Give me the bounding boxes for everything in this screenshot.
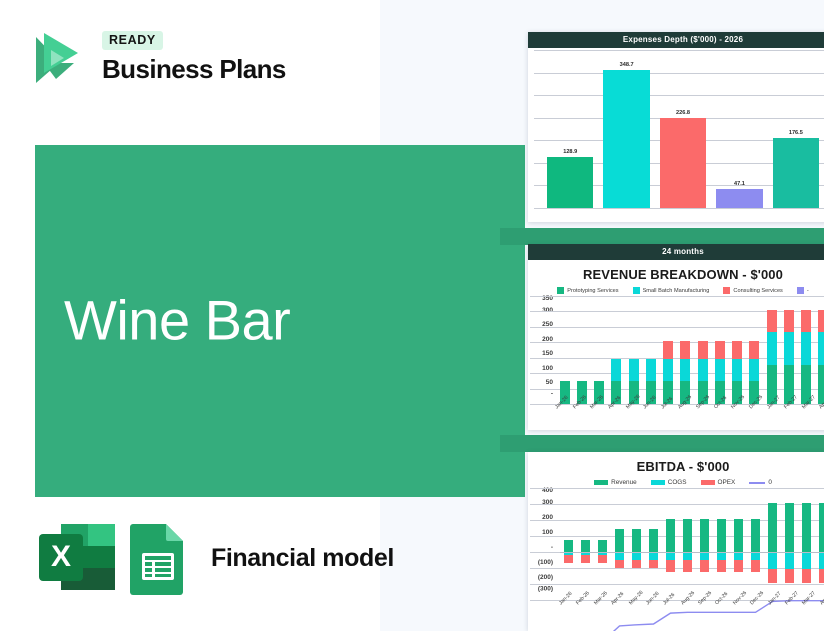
legend-item[interactable]: COGS bbox=[651, 479, 687, 486]
bar-segment bbox=[767, 332, 777, 364]
bar bbox=[773, 138, 819, 208]
chart-card-expenses[interactable]: Expenses Depth ($'000) - 2026 128.9348.7… bbox=[528, 32, 824, 222]
bar-segment bbox=[751, 560, 761, 572]
chart-title-revenue: REVENUE BREAKDOWN - $'000 bbox=[528, 260, 824, 284]
legend-item[interactable]: Consulting Services bbox=[723, 287, 782, 294]
bar-segment bbox=[749, 341, 759, 360]
bar-series-revenue bbox=[556, 296, 824, 404]
play-triangle-logo-icon bbox=[26, 27, 88, 89]
legend-label: 0 bbox=[768, 479, 772, 486]
legend-item[interactable]: Small Batch Manufacturing bbox=[633, 287, 710, 294]
stacked-bar bbox=[713, 488, 730, 600]
bar-segment bbox=[717, 552, 727, 560]
bar-segment bbox=[785, 569, 795, 583]
bar-segment bbox=[615, 529, 625, 552]
ready-badge: READY bbox=[102, 31, 163, 50]
legend-swatch bbox=[723, 287, 730, 294]
bar-segment bbox=[632, 552, 642, 560]
bar-column: 226.8 bbox=[655, 50, 711, 208]
bar-segment bbox=[734, 560, 744, 572]
hero-banner: Wine Bar bbox=[35, 145, 525, 497]
bar-segment bbox=[732, 341, 742, 360]
bar-segment bbox=[785, 552, 795, 569]
stacked-bar bbox=[815, 296, 824, 404]
bar-segment bbox=[680, 341, 690, 360]
bar-segment bbox=[717, 519, 727, 552]
plot-area-expenses: 128.9348.7226.847.1176.5 bbox=[534, 50, 824, 208]
plot-area-ebitda: 400300200100-(100)(200)(300) bbox=[530, 488, 824, 600]
bar-segment bbox=[683, 552, 693, 560]
bar-segment bbox=[818, 332, 824, 364]
bar-column: 348.7 bbox=[598, 50, 654, 208]
bar-column: 47.1 bbox=[711, 50, 767, 208]
stacked-bar bbox=[729, 296, 746, 404]
legend-label: Prototyping Services bbox=[567, 288, 618, 294]
bar-segment bbox=[581, 540, 591, 552]
bar-column: 128.9 bbox=[542, 50, 598, 208]
bar-value-label: 47.1 bbox=[711, 181, 767, 187]
page-title: Wine Bar bbox=[64, 292, 290, 351]
bar-segment bbox=[802, 503, 812, 552]
bar-segment bbox=[581, 555, 591, 563]
legend-item[interactable]: Prototyping Services bbox=[557, 287, 618, 294]
legend-swatch bbox=[557, 287, 564, 294]
bar-segment bbox=[666, 519, 676, 552]
bar-segment bbox=[819, 569, 824, 583]
bar-segment bbox=[700, 519, 710, 552]
stacked-bar bbox=[645, 488, 662, 600]
x-axis-ebitda: Jan-26Feb-26Mar-26Apr-26May-26Jun-26Jul-… bbox=[528, 600, 824, 624]
legend-label: - bbox=[807, 288, 809, 294]
x-axis-revenue: Jan-26Feb-26Mar-26Apr-26May-26Jun-26Jul-… bbox=[528, 404, 824, 428]
legend-item[interactable]: 0 bbox=[749, 479, 772, 486]
bar-segment bbox=[700, 560, 710, 572]
bar-segment bbox=[819, 552, 824, 569]
bar-segment bbox=[801, 332, 811, 364]
legend-label: Consulting Services bbox=[733, 288, 782, 294]
bar-segment bbox=[784, 310, 794, 332]
bar-segment bbox=[785, 503, 795, 552]
bar-segment bbox=[646, 359, 656, 381]
stacked-bar bbox=[694, 296, 711, 404]
bar-segment bbox=[666, 560, 676, 572]
legend-swatch bbox=[651, 480, 665, 485]
bar-segment bbox=[734, 552, 744, 560]
chart-title-expenses: Expenses Depth ($'000) - 2026 bbox=[528, 32, 824, 48]
stacked-bar bbox=[815, 488, 824, 600]
bar-series-expenses: 128.9348.7226.847.1176.5 bbox=[534, 50, 824, 208]
brand-name: Business Plans bbox=[102, 54, 286, 85]
chart-card-ebitda[interactable]: EBITDA - $'000 RevenueCOGSOPEX0 40030020… bbox=[528, 452, 824, 631]
bar-segment bbox=[615, 560, 625, 568]
stacked-bar bbox=[662, 488, 679, 600]
legend-swatch bbox=[633, 287, 640, 294]
stacked-bar bbox=[764, 488, 781, 600]
bar-segment bbox=[768, 569, 778, 583]
bar-segment bbox=[649, 552, 659, 560]
stacked-bar bbox=[625, 296, 642, 404]
bar-segment bbox=[767, 310, 777, 332]
bar-segment bbox=[700, 552, 710, 560]
bar-segment bbox=[564, 555, 574, 563]
legend-item[interactable]: - bbox=[797, 287, 809, 294]
stacked-bar bbox=[711, 296, 728, 404]
legend-label: OPEX bbox=[718, 479, 736, 486]
bar-segment bbox=[802, 569, 812, 583]
bar-segment bbox=[751, 519, 761, 552]
bar-segment bbox=[615, 552, 625, 560]
bar-segment bbox=[818, 310, 824, 332]
legend-swatch bbox=[749, 482, 765, 484]
stacked-bar bbox=[696, 488, 713, 600]
plot-area-revenue: 35030025020015010050- bbox=[530, 296, 824, 404]
bar-segment bbox=[732, 359, 742, 381]
svg-text:X: X bbox=[51, 540, 71, 573]
stacked-bar bbox=[781, 488, 798, 600]
bar-segment bbox=[663, 341, 673, 360]
bar-segment bbox=[801, 310, 811, 332]
accent-strip-ebitda bbox=[500, 435, 824, 452]
bar-value-label: 176.5 bbox=[768, 130, 824, 136]
brand-lockup: READY Business Plans bbox=[26, 27, 286, 89]
bar-segment bbox=[632, 529, 642, 552]
bar-value-label: 348.7 bbox=[598, 62, 654, 68]
bar-segment bbox=[598, 555, 608, 563]
legend-ebitda: RevenueCOGSOPEX0 bbox=[528, 476, 824, 488]
gridline bbox=[534, 208, 824, 209]
stacked-bar bbox=[591, 296, 608, 404]
legend-swatch bbox=[701, 480, 715, 485]
bar-column: 176.5 bbox=[768, 50, 824, 208]
stacked-bar bbox=[677, 296, 694, 404]
stacked-bar bbox=[608, 296, 625, 404]
bar-segment bbox=[734, 519, 744, 552]
bar-segment bbox=[683, 560, 693, 572]
bar-segment bbox=[564, 540, 574, 552]
legend-label: Small Batch Manufacturing bbox=[643, 288, 710, 294]
bar-segment bbox=[768, 552, 778, 569]
bar bbox=[547, 157, 593, 208]
bar-segment bbox=[717, 560, 727, 572]
legend-label: Revenue bbox=[611, 479, 637, 486]
bar-series-ebitda bbox=[560, 488, 824, 600]
bar-segment bbox=[649, 560, 659, 568]
bar bbox=[603, 70, 649, 208]
format-label: Financial model bbox=[211, 544, 394, 573]
stacked-bar bbox=[747, 488, 764, 600]
bar-segment bbox=[819, 503, 824, 552]
bar-segment bbox=[649, 529, 659, 552]
bar-segment bbox=[768, 503, 778, 552]
stacked-bar bbox=[577, 488, 594, 600]
stacked-bar bbox=[780, 296, 797, 404]
chart-title-ebitda: EBITDA - $'000 bbox=[528, 452, 824, 476]
bar-segment bbox=[629, 359, 639, 381]
chart-card-revenue[interactable]: 24 months REVENUE BREAKDOWN - $'000 Prot… bbox=[528, 244, 824, 430]
legend-revenue: Prototyping ServicesSmall Batch Manufact… bbox=[528, 284, 824, 296]
bar-segment bbox=[715, 341, 725, 360]
stacked-bar bbox=[573, 296, 590, 404]
format-row: X Financial model bbox=[35, 520, 394, 596]
stacked-bar bbox=[798, 296, 815, 404]
bar-value-label: 128.9 bbox=[542, 149, 598, 155]
bar-segment bbox=[749, 359, 759, 381]
legend-swatch bbox=[594, 480, 608, 485]
bar-segment bbox=[698, 359, 708, 381]
legend-item[interactable]: Revenue bbox=[594, 479, 637, 486]
bar-segment bbox=[818, 365, 824, 404]
bar-segment bbox=[598, 540, 608, 552]
bar-segment bbox=[751, 552, 761, 560]
bar-segment bbox=[802, 552, 812, 569]
bar-segment bbox=[680, 359, 690, 381]
stacked-bar bbox=[594, 488, 611, 600]
bar-segment bbox=[715, 359, 725, 381]
bar-segment bbox=[784, 332, 794, 364]
bar-segment bbox=[632, 560, 642, 568]
stacked-bar bbox=[679, 488, 696, 600]
bar-value-label: 226.8 bbox=[655, 110, 711, 116]
zero-line bbox=[560, 552, 824, 553]
accent-strip-revenue bbox=[500, 228, 824, 245]
slide-canvas: READY Business Plans Wine Bar X bbox=[0, 0, 824, 631]
stacked-bar bbox=[660, 296, 677, 404]
legend-label: COGS bbox=[668, 479, 687, 486]
bar-segment bbox=[683, 519, 693, 552]
stacked-bar bbox=[730, 488, 747, 600]
bar-segment bbox=[698, 341, 708, 360]
chart-header-revenue: 24 months bbox=[528, 244, 824, 260]
microsoft-excel-icon: X bbox=[35, 520, 121, 596]
stacked-bar bbox=[763, 296, 780, 404]
bar bbox=[716, 189, 762, 208]
bar-segment bbox=[666, 552, 676, 560]
legend-swatch bbox=[797, 287, 804, 294]
stacked-bar bbox=[560, 488, 577, 600]
bar bbox=[660, 118, 706, 208]
legend-item[interactable]: OPEX bbox=[701, 479, 736, 486]
stacked-bar bbox=[628, 488, 645, 600]
stacked-bar bbox=[611, 488, 628, 600]
stacked-bar bbox=[746, 296, 763, 404]
stacked-bar bbox=[556, 296, 573, 404]
stacked-bar bbox=[642, 296, 659, 404]
bar-segment bbox=[663, 359, 673, 381]
bar-segment bbox=[611, 359, 621, 381]
google-sheets-icon bbox=[127, 520, 189, 596]
stacked-bar bbox=[798, 488, 815, 600]
